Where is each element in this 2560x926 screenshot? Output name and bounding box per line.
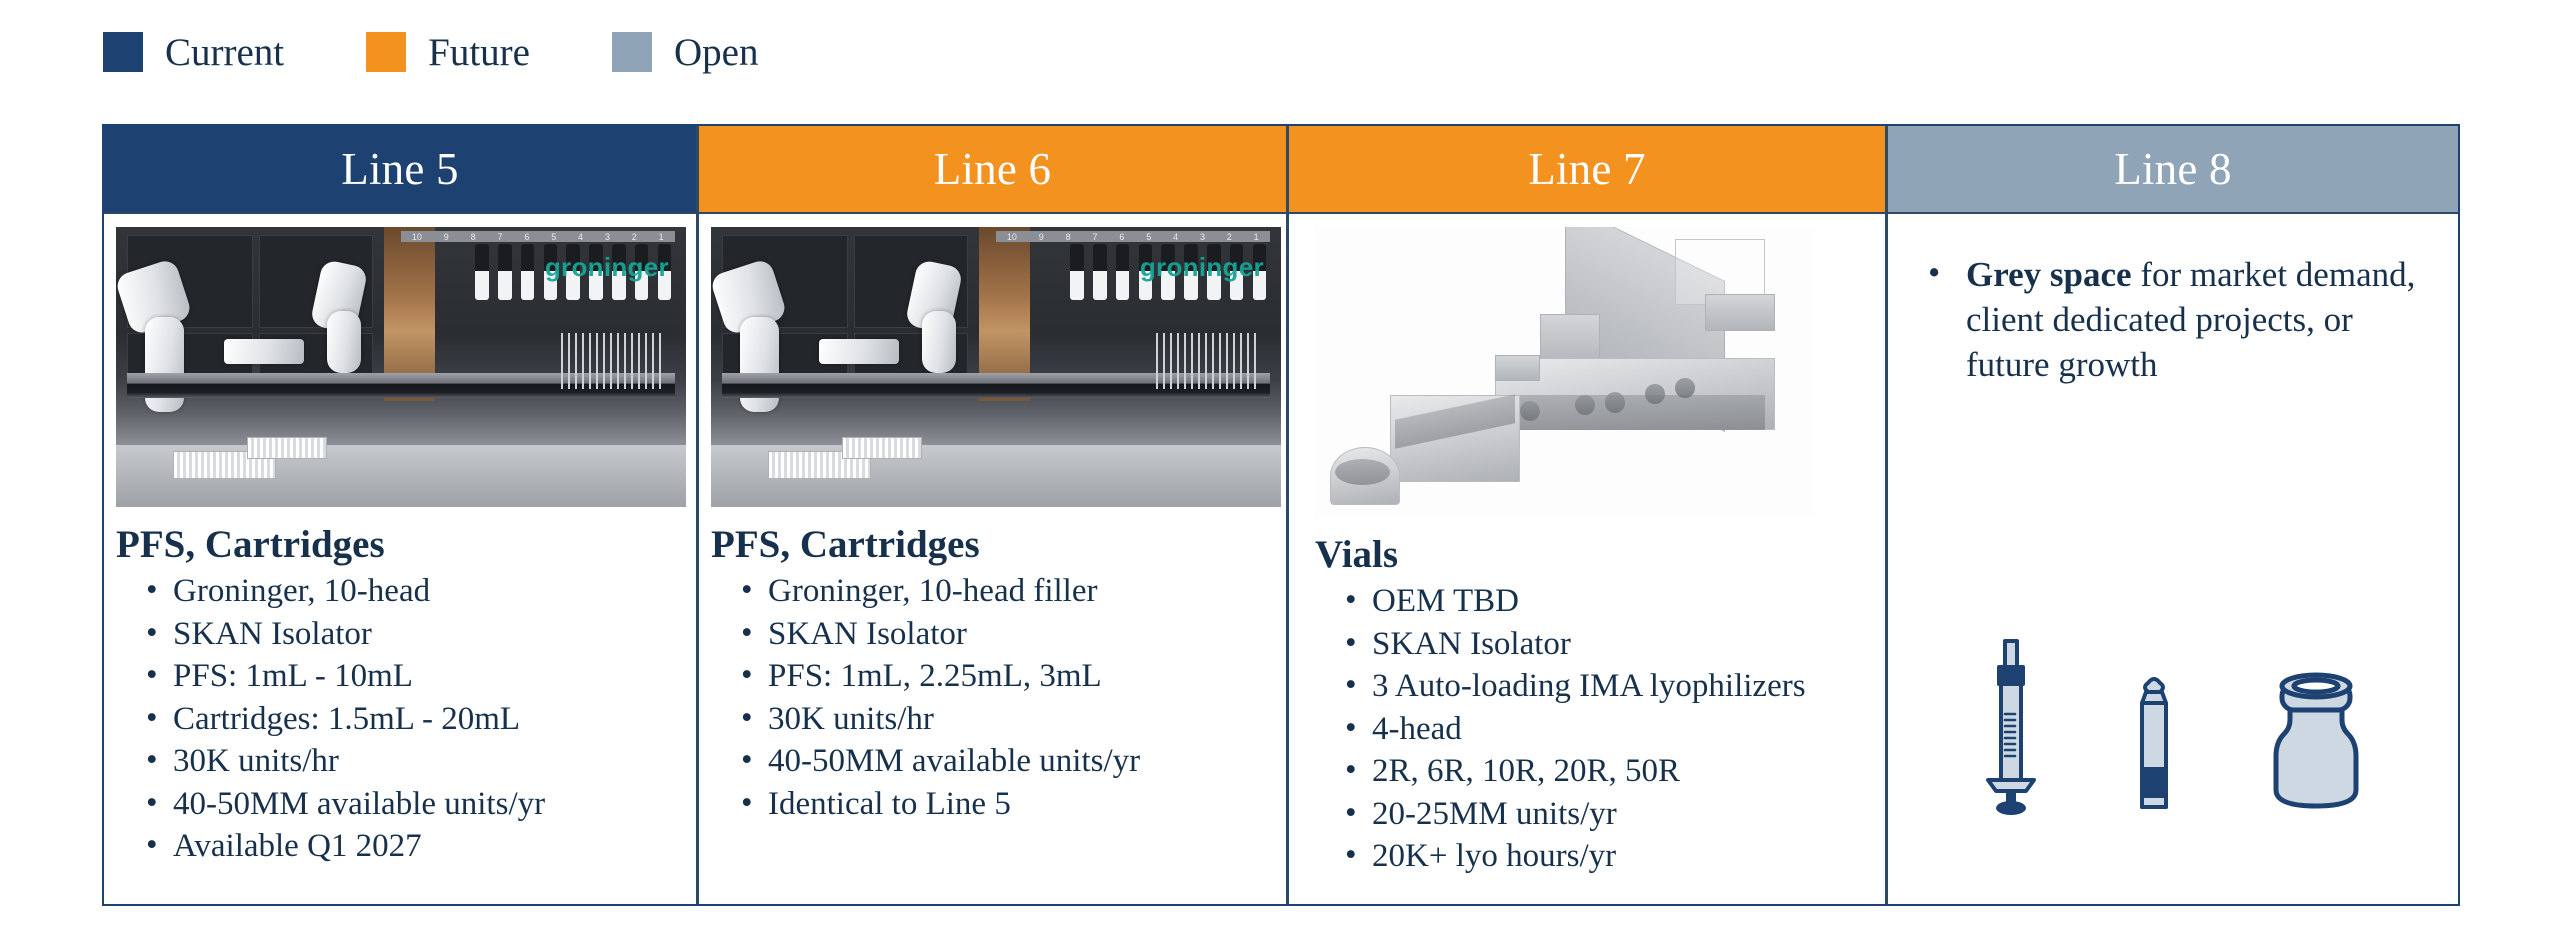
bullet-list-line-5: Groninger, 10-head SKAN Isolator PFS: 1m… bbox=[144, 570, 696, 868]
column-body-line-7: Vials OEM TBD SKAN Isolator 3 Auto-loadi… bbox=[1289, 214, 1885, 904]
column-header-line-6: Line 6 bbox=[699, 126, 1286, 214]
column-header-line-5: Line 5 bbox=[104, 126, 696, 214]
groninger-filling-line-photo: 10987654321 bbox=[116, 227, 686, 507]
grey-space-note-bold: Grey space bbox=[1966, 255, 2132, 294]
column-header-line-7: Line 7 bbox=[1289, 126, 1885, 214]
legend-item-current: Current bbox=[103, 32, 284, 72]
list-item: 2R, 6R, 10R, 20R, 50R bbox=[1343, 750, 1885, 793]
column-line-5: Line 5 10987654321 bbox=[104, 126, 699, 904]
groninger-filling-line-photo: 10987654321 bbox=[711, 227, 1281, 507]
list-item: OEM TBD bbox=[1343, 580, 1885, 623]
column-title-line-7: Vials bbox=[1315, 535, 1885, 576]
container-icon-row bbox=[1888, 622, 2458, 822]
legend-item-open: Open bbox=[612, 32, 758, 72]
bullet-list-line-7: OEM TBD SKAN Isolator 3 Auto-loading IMA… bbox=[1343, 580, 1885, 878]
column-line-6: Line 6 10987654321 bbox=[699, 126, 1289, 904]
list-item: 4-head bbox=[1343, 708, 1885, 751]
list-item: Groninger, 10-head bbox=[144, 570, 696, 613]
list-item: PFS: 1mL, 2.25mL, 3mL bbox=[739, 655, 1286, 698]
bullet-list-line-6: Groninger, 10-head filler SKAN Isolator … bbox=[739, 570, 1286, 825]
column-body-line-8: Grey space for market demand, client ded… bbox=[1888, 214, 2458, 904]
slide-root: Current Future Open Line 5 bbox=[0, 0, 2560, 926]
column-title-line-6: PFS, Cartridges bbox=[711, 525, 1286, 566]
legend-swatch-current bbox=[103, 32, 143, 72]
legend-label-open: Open bbox=[674, 33, 758, 72]
column-body-line-5: 10987654321 bbox=[104, 214, 696, 904]
column-body-line-6: 10987654321 bbox=[699, 214, 1286, 904]
list-item: SKAN Isolator bbox=[1343, 623, 1885, 666]
column-header-line-8: Line 8 bbox=[1888, 126, 2458, 214]
vial-filling-line-cad-render bbox=[1315, 227, 1815, 517]
column-title-line-5: PFS, Cartridges bbox=[116, 525, 696, 566]
list-item: 20-25MM units/yr bbox=[1343, 793, 1885, 836]
list-item: 30K units/hr bbox=[144, 740, 696, 783]
list-item: 40-50MM available units/yr bbox=[739, 740, 1286, 783]
column-line-7: Line 7 bbox=[1289, 126, 1888, 904]
legend-swatch-open bbox=[612, 32, 652, 72]
list-item: Available Q1 2027 bbox=[144, 825, 696, 868]
list-item: SKAN Isolator bbox=[144, 613, 696, 656]
lines-comparison-table: Line 5 10987654321 bbox=[102, 124, 2460, 906]
grey-space-note: Grey space for market demand, client ded… bbox=[1922, 252, 2422, 387]
list-item: PFS: 1mL - 10mL bbox=[144, 655, 696, 698]
cartridge-icon bbox=[2124, 667, 2184, 822]
list-item: Identical to Line 5 bbox=[739, 783, 1286, 826]
list-item: 30K units/hr bbox=[739, 698, 1286, 741]
legend-swatch-future bbox=[366, 32, 406, 72]
legend: Current Future Open bbox=[103, 26, 758, 78]
column-line-8: Line 8 Grey space for market demand, cli… bbox=[1888, 126, 2458, 904]
legend-label-future: Future bbox=[428, 33, 530, 72]
list-item: Groninger, 10-head filler bbox=[739, 570, 1286, 613]
list-item: 40-50MM available units/yr bbox=[144, 783, 696, 826]
list-item: Cartridges: 1.5mL - 20mL bbox=[144, 698, 696, 741]
list-item: 20K+ lyo hours/yr bbox=[1343, 835, 1885, 878]
legend-label-current: Current bbox=[165, 33, 284, 72]
list-item: 3 Auto-loading IMA lyophilizers bbox=[1343, 665, 1885, 708]
legend-item-future: Future bbox=[366, 32, 530, 72]
list-item: SKAN Isolator bbox=[739, 613, 1286, 656]
vial-icon bbox=[2260, 662, 2372, 822]
syringe-icon bbox=[1974, 637, 2048, 822]
